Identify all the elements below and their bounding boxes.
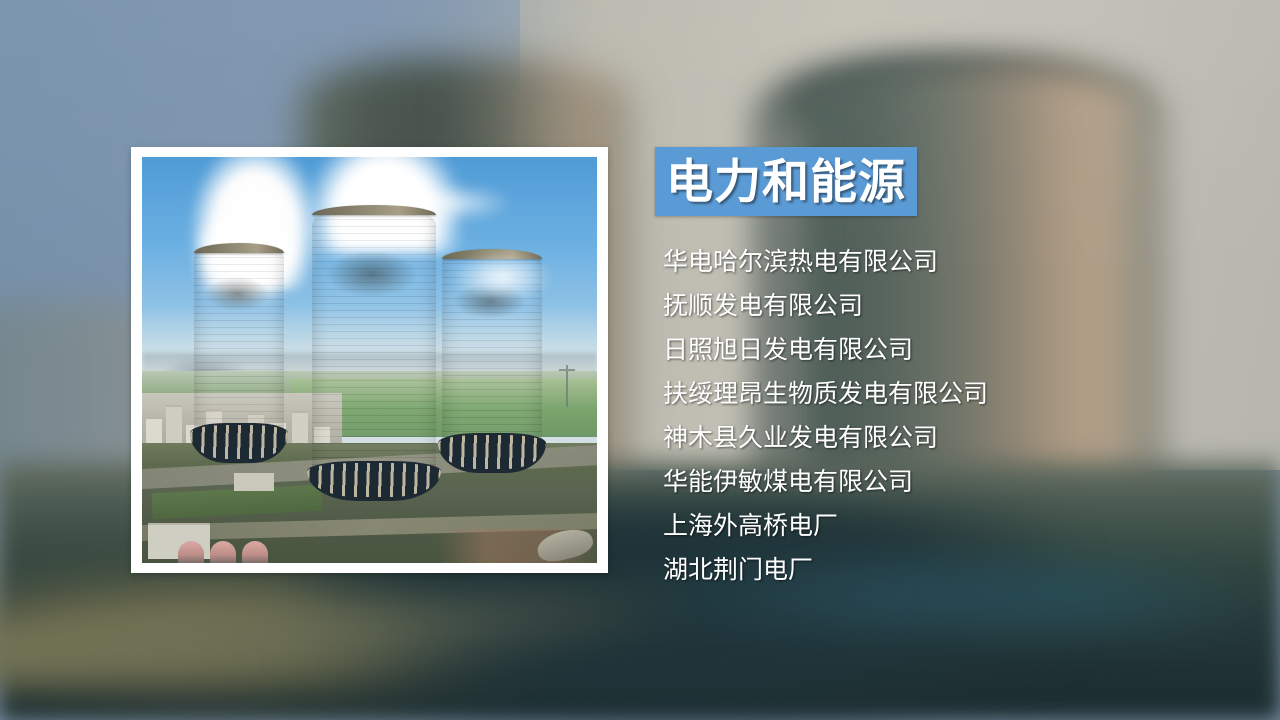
title-banner: 电力和能源 <box>655 147 917 216</box>
photo-steam-plume-right <box>454 253 550 297</box>
list-item: 上海外高桥电厂 <box>663 504 1183 548</box>
list-item: 神木县久业发电有限公司 <box>663 416 1183 460</box>
list-item: 华能伊敏煤电有限公司 <box>663 460 1183 504</box>
photo-storage-tank <box>178 541 204 563</box>
photo-small-building <box>234 473 274 491</box>
list-item: 抚顺发电有限公司 <box>663 284 1183 328</box>
photo-storage-tank <box>242 541 268 563</box>
photo-power-pylon <box>566 365 568 407</box>
page-title: 电力和能源 <box>666 158 906 205</box>
list-item: 湖北荆门电厂 <box>663 548 1183 592</box>
company-list: 华电哈尔滨热电有限公司 抚顺发电有限公司 日照旭日发电有限公司 扶绥理昂生物质发… <box>663 240 1183 592</box>
list-item: 华电哈尔滨热电有限公司 <box>663 240 1183 284</box>
photo-cooling-tower-center <box>312 205 436 493</box>
list-item: 日照旭日发电有限公司 <box>663 328 1183 372</box>
photo-cooling-tower-left <box>194 243 284 455</box>
slide-canvas: 电力和能源 华电哈尔滨热电有限公司 抚顺发电有限公司 日照旭日发电有限公司 扶绥… <box>0 0 1280 720</box>
list-item: 扶绥理昂生物质发电有限公司 <box>663 372 1183 416</box>
photo-storage-tank <box>210 541 236 563</box>
photo-frame <box>131 147 608 573</box>
photo-cooling-towers <box>142 157 597 563</box>
